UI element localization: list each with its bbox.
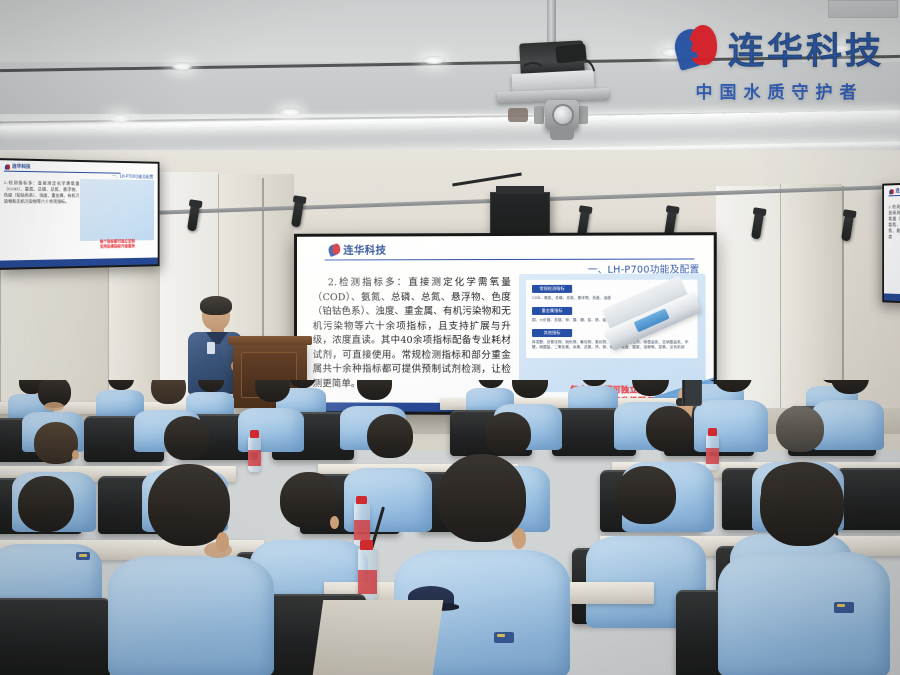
presenter-badge (207, 342, 215, 354)
water-droplet-logo-icon (328, 244, 340, 257)
head (646, 406, 694, 452)
water-bottle-icon (248, 436, 261, 472)
ear (330, 516, 339, 529)
left-monitor-divider (4, 171, 120, 174)
shoulder-epaulette (834, 602, 854, 613)
benchtop-analyzer-device-icon (595, 274, 705, 379)
smartphone-camera-icon[interactable] (682, 380, 702, 406)
shoulder-epaulette (76, 552, 90, 560)
right-monitor-taskbar[interactable] (884, 293, 900, 301)
slide-header: 连华科技 (297, 235, 714, 259)
water-droplet-logo-icon (889, 189, 893, 194)
head (18, 476, 74, 532)
slide-image-card: 常规检测指标 COD、氨氮、总磷、总氮、悬浮物、色度、浊度 重金属指标 铜、六价… (519, 274, 706, 393)
slide-tag-label: 常规检测指标 (532, 285, 572, 293)
nape (204, 542, 232, 558)
slide-tag-label: 其他指标 (532, 329, 572, 337)
right-monitor-logo-text: 连华科技 (896, 188, 900, 195)
ceiling-downlight (170, 62, 194, 71)
head (255, 380, 290, 402)
air-vent (828, 0, 898, 18)
left-monitor-caption: 每个指标都可独立定制 支持后续指标升级服务 (82, 239, 153, 250)
water-bottle-icon (358, 548, 377, 600)
head (34, 422, 78, 464)
ceiling-downlight (108, 114, 132, 123)
ir-sensor (508, 108, 528, 122)
slide-tag-box: 其他指标 (532, 329, 572, 337)
speaker-bracket (496, 186, 544, 194)
right-wall-monitor[interactable]: 连华科技 2.检测指标多：直接测定化学需氧量（COD）、氨氮、总磷、总氮、悬浮物… (882, 182, 900, 304)
right-monitor-slide: 连华科技 2.检测指标多：直接测定化学需氧量（COD）、氨氮、总磷、总氮、悬浮物… (884, 184, 900, 301)
right-monitor-body-text: 2.检测指标多：直接测定化学需氧量（COD）、氨氮、总磷、总氮、悬浮物、色度 (888, 204, 900, 240)
left-monitor-caption-line2: 支持后续指标升级服务 (82, 244, 153, 250)
right-monitor-divider (888, 195, 900, 197)
nape (44, 402, 64, 411)
watermark-brand-name: 连华科技 (728, 22, 884, 74)
head (485, 412, 531, 456)
head (198, 380, 224, 392)
projector-base (550, 126, 574, 140)
conference-room-photo: 连华科技 一、LH-P700功能及配置 2.检测指标多：直接测定化学需氧量（CO… (0, 0, 900, 675)
slide-brand-logo: 连华科技 (328, 242, 386, 257)
slide-card-inner: 常规检测指标 COD、氨氮、总磷、总氮、悬浮物、色度、浊度 重金属指标 铜、六价… (526, 280, 697, 359)
slide-tag-label: 重金属指标 (532, 307, 572, 315)
ceiling-downlight (422, 56, 446, 65)
ear (72, 450, 79, 460)
head (357, 380, 392, 400)
water-droplet-logo-icon (675, 25, 719, 71)
slide-tag-box: 重金属指标 (532, 307, 572, 315)
ear (512, 528, 526, 549)
podium-top (228, 336, 312, 345)
left-monitor-body-text: 2.检测指标多：直接测定化学需氧量（COD）、氨氮、总磷、总氮、悬浮物、色度（铂… (4, 180, 80, 205)
projector-lens (552, 104, 574, 126)
brand-watermark: 连华科技 中国水质守护者 (675, 22, 884, 103)
cable-loop (520, 62, 546, 84)
slide-logo-text: 连华科技 (343, 242, 386, 257)
head (616, 466, 676, 524)
left-monitor-slide: 连华科技 一、LH-P700功能及配置 2.检测指标多：直接测定化学需氧量（CO… (0, 160, 158, 268)
head (632, 380, 669, 396)
head (438, 454, 526, 542)
head (151, 380, 186, 404)
projector-side-wing (534, 106, 544, 124)
left-wall-monitor[interactable]: 连华科技 一、LH-P700功能及配置 2.检测指标多：直接测定化学需氧量（CO… (0, 158, 159, 270)
watermark-row: 连华科技 (675, 22, 884, 74)
head (108, 380, 134, 390)
head (512, 380, 548, 398)
left-monitor-logo-text: 连华科技 (12, 164, 31, 171)
head (776, 406, 824, 452)
head (831, 380, 869, 394)
presenter-hair (200, 296, 232, 315)
left-monitor-image-card (80, 179, 154, 241)
mount-pole (547, 0, 556, 46)
head (714, 380, 752, 392)
right-monitor-logo: 连华科技 (889, 188, 900, 195)
watermark-tagline: 中国水质守护者 (695, 78, 863, 103)
water-droplet-logo-icon (5, 164, 10, 169)
slide-header-divider (325, 258, 695, 260)
head (367, 414, 413, 458)
head (164, 416, 209, 460)
projector-side-wing (578, 106, 588, 124)
slide-body-text: 2.检测指标多：直接测定化学需氧量（COD）、氨氮、总磷、总氮、悬浮物、色度（铂… (313, 276, 511, 393)
ceiling-downlight (278, 108, 302, 117)
head (760, 462, 844, 546)
slide-tag-box: 常规检测指标 (532, 285, 572, 293)
left-monitor-taskbar[interactable] (0, 257, 158, 267)
left-monitor-logo: 连华科技 (5, 163, 31, 170)
